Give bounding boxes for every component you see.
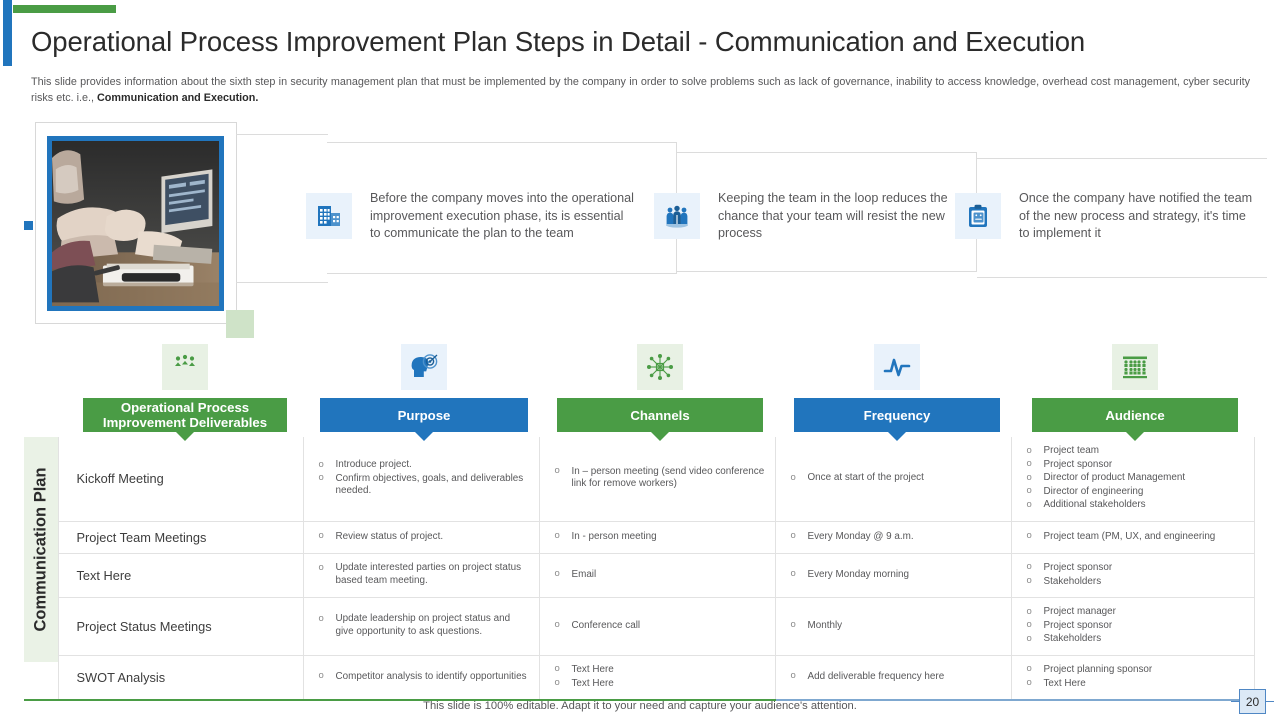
cell-deliverable: Text Here: [58, 553, 303, 597]
table-row-gutter: [24, 437, 58, 521]
meeting-photo: [47, 136, 224, 311]
list-item: Introduce project.: [314, 459, 529, 472]
page-title: Operational Process Improvement Plan Ste…: [31, 26, 1251, 58]
list-item: Text Here: [550, 664, 765, 677]
callout-1-text: Before the company moves into the operat…: [370, 190, 636, 243]
frequency-list: Add deliverable frequency here: [786, 671, 1001, 684]
purpose-list: Update leadership on project status and …: [314, 613, 529, 638]
accent-bar-horizontal: [13, 5, 116, 13]
page-dash-left: [1231, 701, 1239, 702]
purpose-list: Review status of project.: [314, 531, 529, 544]
subtitle-emphasis: Communication and Execution.: [97, 92, 258, 104]
cell-frequency: Monthly: [775, 598, 1011, 656]
cell-purpose: Competitor analysis to identify opportun…: [303, 655, 539, 700]
column-header-purpose[interactable]: Purpose: [320, 398, 528, 432]
cell-purpose: Update interested parties on project sta…: [303, 553, 539, 597]
audience-list: Project managerProject sponsorStakeholde…: [1022, 606, 1244, 646]
cell-audience: Project sponsorStakeholders: [1011, 553, 1254, 597]
network-nodes-icon: [637, 344, 683, 390]
callout-1[interactable]: Before the company moves into the operat…: [306, 190, 636, 243]
callout-2[interactable]: Keeping the team in the loop reduces the…: [654, 190, 954, 243]
cell-channels: Conference call: [539, 598, 775, 656]
accent-bar-vertical: [3, 0, 12, 66]
channels-list: In - person meeting: [550, 531, 765, 544]
callout-3-text: Once the company have notified the team …: [1019, 190, 1255, 243]
audience-list: Project team (PM, UX, and engineering: [1022, 531, 1244, 544]
frequency-list: Every Monday @ 9 a.m.: [786, 531, 1001, 544]
column-header-channels-label: Channels: [630, 408, 689, 423]
table-row: Text HereUpdate interested parties on pr…: [24, 553, 1254, 597]
table-row: Project Status MeetingsUpdate leadership…: [24, 598, 1254, 656]
cell-frequency: Once at start of the project: [775, 437, 1011, 521]
deliverable-label: SWOT Analysis: [77, 670, 303, 685]
list-item: Text Here: [550, 678, 765, 691]
target-mind-icon: [401, 344, 447, 390]
deliverable-label: Project Status Meetings: [77, 619, 303, 634]
list-item: Director of product Management: [1022, 472, 1244, 485]
list-item: Text Here: [1022, 678, 1244, 691]
page-subtitle: This slide provides information about th…: [31, 74, 1250, 106]
column-header-frequency[interactable]: Frequency: [794, 398, 1000, 432]
list-item: Conference call: [550, 620, 765, 633]
audience-list: Project sponsorStakeholders: [1022, 562, 1244, 588]
pulse-wave-icon: [874, 344, 920, 390]
column-header-audience-label: Audience: [1105, 408, 1164, 423]
list-item: Confirm objectives, goals, and deliverab…: [314, 473, 529, 498]
table-row: Project Team MeetingsReview status of pr…: [24, 521, 1254, 553]
audience-list: Project planning sponsorText Here: [1022, 664, 1244, 690]
page-dash-right: [1266, 701, 1274, 702]
purpose-list: Update interested parties on project sta…: [314, 562, 529, 587]
cell-channels: Email: [539, 553, 775, 597]
cell-frequency: Every Monday @ 9 a.m.: [775, 521, 1011, 553]
list-item: Stakeholders: [1022, 633, 1244, 646]
cell-audience: Project planning sponsorText Here: [1011, 655, 1254, 700]
list-item: Project sponsor: [1022, 620, 1244, 633]
table-row-gutter: [24, 521, 58, 553]
connector-line-bottom: [236, 282, 328, 283]
growth-arrows-icon: [162, 344, 208, 390]
connector-line-top: [236, 134, 328, 135]
cell-audience: Project managerProject sponsorStakeholde…: [1011, 598, 1254, 656]
audience-crowd-icon: [1112, 344, 1158, 390]
list-item: Stakeholders: [1022, 576, 1244, 589]
building-icon: [306, 193, 352, 239]
page-number: 20: [1239, 689, 1266, 714]
clipboard-icon: [955, 193, 1001, 239]
list-item: Project team (PM, UX, and engineering: [1022, 531, 1244, 544]
table-row-gutter: [24, 553, 58, 597]
channels-list: In – person meeting (send video conferen…: [550, 466, 765, 491]
column-header-channels[interactable]: Channels: [557, 398, 763, 432]
deliverable-label: Kickoff Meeting: [77, 471, 303, 486]
table-row-gutter: [24, 655, 58, 700]
list-item: Project planning sponsor: [1022, 664, 1244, 677]
list-item: Update leadership on project status and …: [314, 613, 529, 638]
list-item: In – person meeting (send video conferen…: [550, 466, 765, 491]
list-item: Additional stakeholders: [1022, 499, 1244, 512]
cell-deliverable: Project Team Meetings: [58, 521, 303, 553]
callout-3[interactable]: Once the company have notified the team …: [955, 190, 1255, 243]
frequency-list: Once at start of the project: [786, 472, 1001, 485]
list-item: Project sponsor: [1022, 459, 1244, 472]
footer-note: This slide is 100% editable. Adapt it to…: [0, 700, 1280, 712]
table-row-gutter: [24, 598, 58, 656]
list-item: Update interested parties on project sta…: [314, 562, 529, 587]
channels-list: Text HereText Here: [550, 664, 765, 690]
column-header-deliverables[interactable]: Operational Process Improvement Delivera…: [83, 398, 287, 432]
list-item: Review status of project.: [314, 531, 529, 544]
list-item: Competitor analysis to identify opportun…: [314, 671, 529, 684]
list-item: Every Monday morning: [786, 569, 1001, 582]
cell-audience: Project teamProject sponsorDirector of p…: [1011, 437, 1254, 521]
decor-square-green: [226, 310, 254, 338]
deliverable-label: Text Here: [77, 568, 303, 583]
frequency-list: Every Monday morning: [786, 569, 1001, 582]
slide-canvas: Operational Process Improvement Plan Ste…: [0, 0, 1280, 720]
cell-purpose: Review status of project.: [303, 521, 539, 553]
cell-deliverable: Kickoff Meeting: [58, 437, 303, 521]
list-item: Project team: [1022, 445, 1244, 458]
list-item: Project manager: [1022, 606, 1244, 619]
decor-square-blue: [24, 221, 33, 230]
frequency-list: Monthly: [786, 620, 1001, 633]
column-header-frequency-label: Frequency: [864, 408, 931, 423]
cell-frequency: Every Monday morning: [775, 553, 1011, 597]
purpose-list: Introduce project.Confirm objectives, go…: [314, 459, 529, 498]
cell-channels: In – person meeting (send video conferen…: [539, 437, 775, 521]
channels-list: Conference call: [550, 620, 765, 633]
column-header-audience[interactable]: Audience: [1032, 398, 1238, 432]
list-item: Monthly: [786, 620, 1001, 633]
audience-list: Project teamProject sponsorDirector of p…: [1022, 445, 1244, 512]
cell-deliverable: SWOT Analysis: [58, 655, 303, 700]
cell-channels: In - person meeting: [539, 521, 775, 553]
list-item: Once at start of the project: [786, 472, 1001, 485]
cell-purpose: Introduce project.Confirm objectives, go…: [303, 437, 539, 521]
column-header-deliverables-label: Operational Process Improvement Delivera…: [83, 400, 287, 430]
table-row: SWOT AnalysisCompetitor analysis to iden…: [24, 655, 1254, 700]
channels-list: Email: [550, 569, 765, 582]
cell-deliverable: Project Status Meetings: [58, 598, 303, 656]
meeting-photo-image: [52, 141, 219, 306]
cell-audience: Project team (PM, UX, and engineering: [1011, 521, 1254, 553]
deliverable-label: Project Team Meetings: [77, 530, 303, 545]
table-body: Kickoff MeetingIntroduce project.Confirm…: [24, 437, 1254, 700]
purpose-list: Competitor analysis to identify opportun…: [314, 671, 529, 684]
list-item: In - person meeting: [550, 531, 765, 544]
list-item: Director of engineering: [1022, 486, 1244, 499]
cell-frequency: Add deliverable frequency here: [775, 655, 1011, 700]
communication-plan-table: Kickoff MeetingIntroduce project.Confirm…: [24, 437, 1255, 701]
list-item: Email: [550, 569, 765, 582]
list-item: Every Monday @ 9 a.m.: [786, 531, 1001, 544]
team-group-icon: [654, 193, 700, 239]
callout-2-text: Keeping the team in the loop reduces the…: [718, 190, 954, 243]
cell-purpose: Update leadership on project status and …: [303, 598, 539, 656]
table-row: Kickoff MeetingIntroduce project.Confirm…: [24, 437, 1254, 521]
cell-channels: Text HereText Here: [539, 655, 775, 700]
list-item: Add deliverable frequency here: [786, 671, 1001, 684]
column-header-purpose-label: Purpose: [398, 408, 451, 423]
list-item: Project sponsor: [1022, 562, 1244, 575]
